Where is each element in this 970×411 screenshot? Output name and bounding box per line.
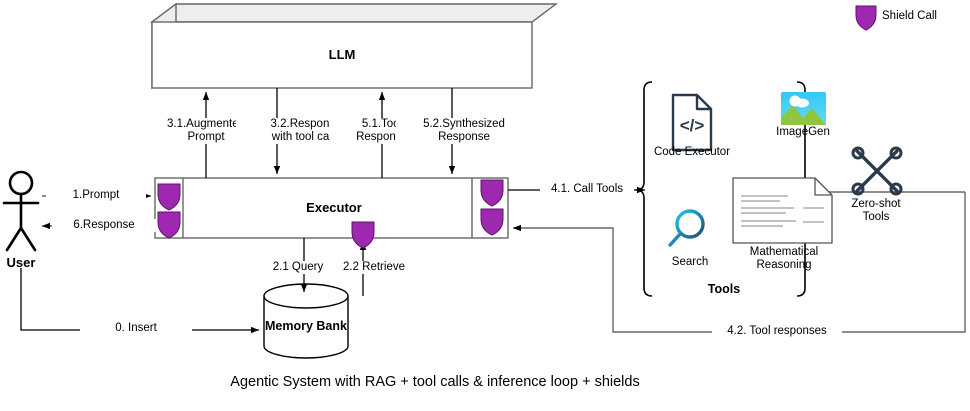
formula-document-icon[interactable] — [733, 178, 832, 243]
llm-label: LLM — [302, 48, 382, 61]
edge-label-query: 2.1 Query — [263, 261, 333, 274]
edge-label-prompt: 1.Prompt — [46, 189, 146, 202]
tool-label-zero-shot-tools: Zero-shot Tools — [839, 198, 913, 224]
tool-label-imagegen: ImageGen — [763, 126, 843, 139]
code-document-icon[interactable]: </> — [673, 95, 711, 150]
tools-group-label: Tools — [694, 283, 754, 296]
executor-label: Executor — [286, 201, 382, 214]
user-label: User — [0, 256, 46, 269]
tool-label-search: Search — [655, 256, 725, 269]
diagram-canvas: </> — [0, 0, 970, 411]
tool-label-code-executor: Code Executor — [645, 146, 739, 159]
llm-node[interactable] — [152, 4, 556, 88]
edge-label-tool-responses: 4.2. Tool responses — [712, 325, 842, 338]
edge-label-insert: 0. Insert — [80, 322, 192, 335]
shield-icon-memory — [352, 222, 374, 248]
edge-insert — [21, 268, 259, 330]
image-picture-icon[interactable] — [781, 92, 826, 125]
edge-label-synthesized-response: 5.2.Synthesized Response — [396, 118, 532, 144]
tool-label-mathematical-reasoning: Mathematical Reasoning — [736, 246, 832, 272]
user-actor[interactable] — [4, 172, 38, 250]
memory-bank-label: Memory Bank — [256, 320, 356, 333]
shield-icon-legend — [856, 6, 876, 30]
edge-label-retrieve: 2.2 Retrieve — [334, 261, 414, 274]
svg-text:</>: </> — [680, 116, 705, 135]
legend-shield-label: Shield Call — [882, 10, 962, 23]
edge-label-response: 6.Response — [52, 219, 156, 232]
edge-label-call-tools: 4.1. Call Tools — [540, 183, 634, 196]
crossed-wrenches-icon[interactable] — [853, 148, 901, 194]
magnifier-icon[interactable] — [670, 211, 703, 245]
diagram-caption: Agentic System with RAG + tool calls & i… — [0, 374, 870, 390]
